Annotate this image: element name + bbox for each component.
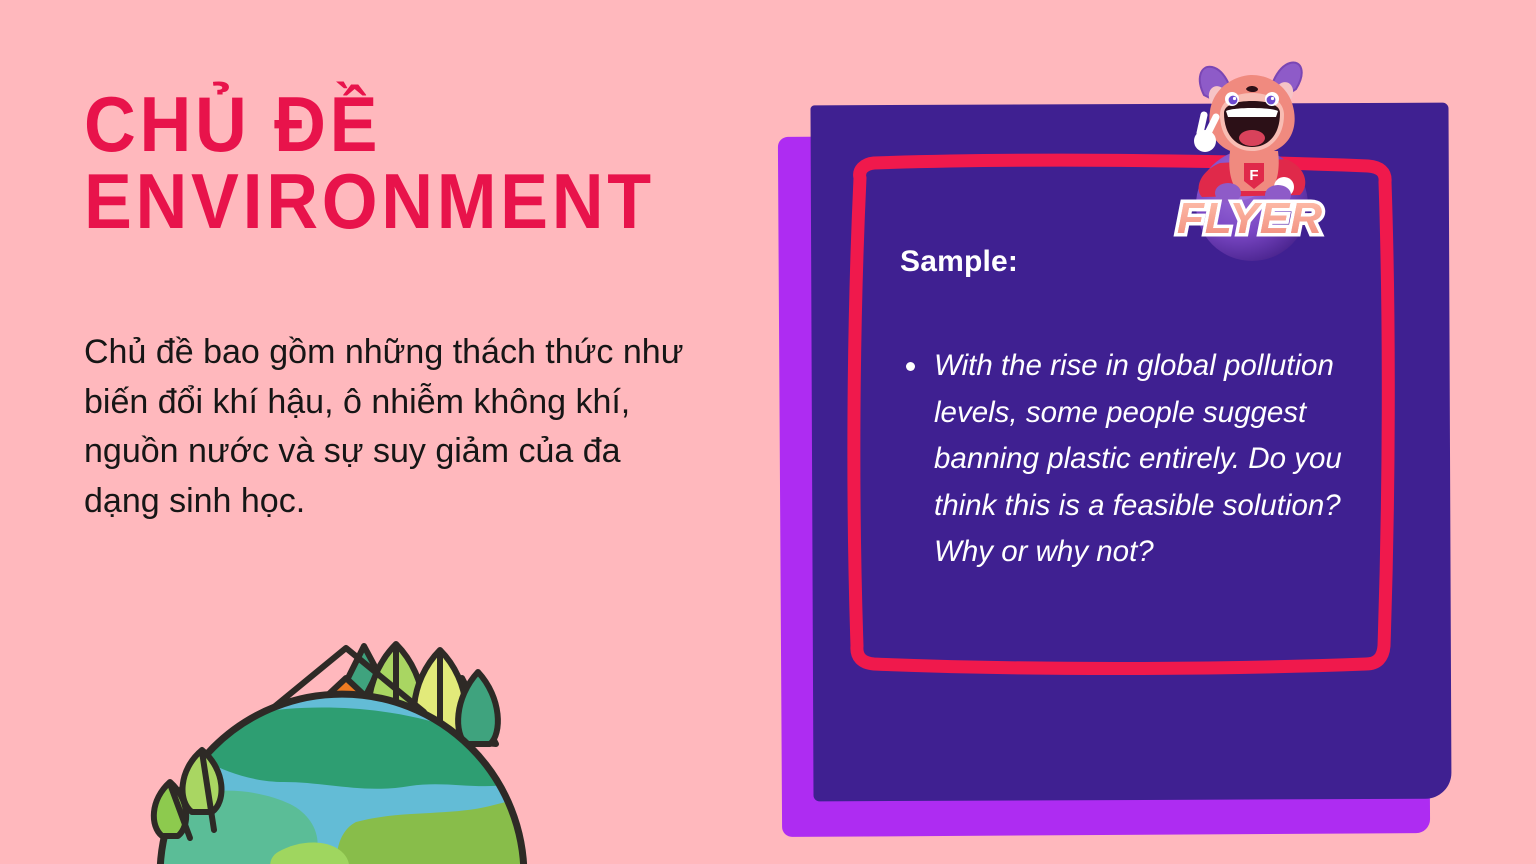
sample-card-stack: Sample: With the rise in global pollutio… xyxy=(760,80,1480,780)
card-content: Sample: With the rise in global pollutio… xyxy=(900,245,1380,576)
page-title: CHỦ ĐỀ ENVIRONMENT xyxy=(84,86,724,240)
flyer-brand-badge: F FLYER FLYER xyxy=(1160,55,1340,255)
title-line-1: CHỦ ĐỀ xyxy=(84,86,673,163)
topic-description: Chủ đề bao gồm những thách thức như biến… xyxy=(84,328,704,527)
sample-bullet-list: With the rise in global pollution levels… xyxy=(900,343,1380,576)
mascot-character: F xyxy=(1194,63,1305,205)
peace-sign-hand xyxy=(1194,115,1216,152)
earth-illustration xyxy=(150,586,530,864)
left-column: CHỦ ĐỀ ENVIRONMENT Chủ đề bao gồm những … xyxy=(0,0,760,864)
flyer-wordmark-text: FLYER xyxy=(1177,194,1323,243)
mascot-badge-letter: F xyxy=(1249,167,1258,184)
list-item: With the rise in global pollution levels… xyxy=(900,343,1380,576)
title-line-2: ENVIRONMENT xyxy=(84,163,673,240)
flyer-wordmark: FLYER FLYER xyxy=(1177,194,1323,243)
slide-root: CHỦ ĐỀ ENVIRONMENT Chủ đề bao gồm những … xyxy=(0,0,1536,864)
